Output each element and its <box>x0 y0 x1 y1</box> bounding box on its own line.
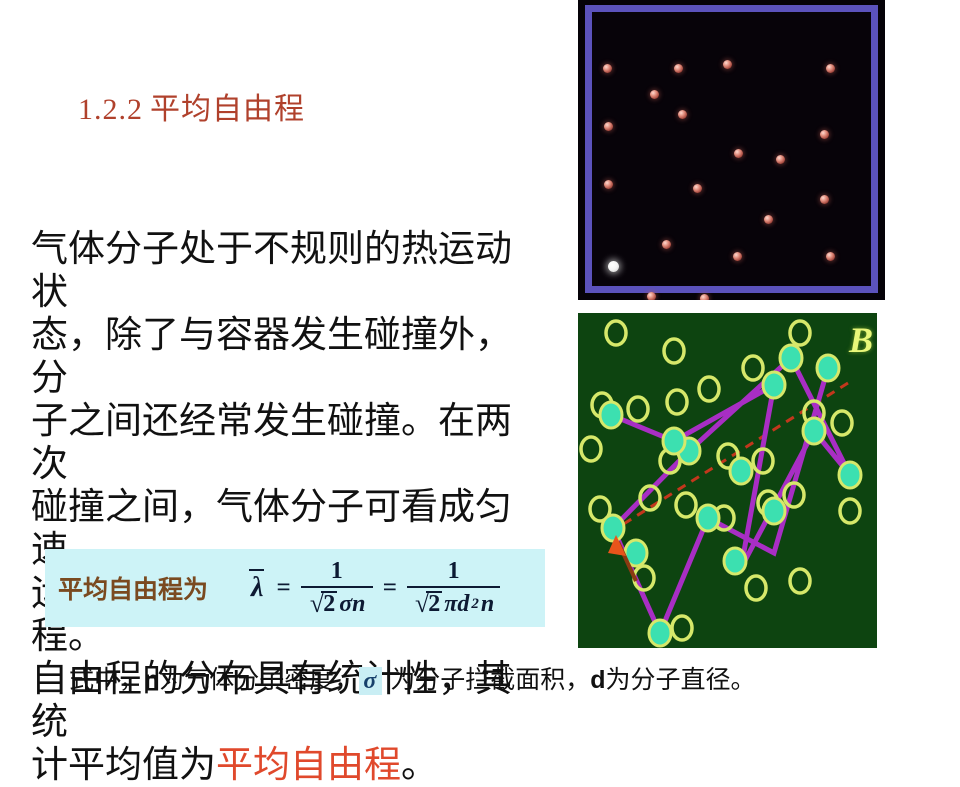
gas-molecule <box>662 240 671 249</box>
equals-sign-1: = <box>276 574 290 602</box>
body-line-1: 气体分子处于不规则的热运动状 <box>31 228 531 314</box>
sigma-n-term: σn <box>339 592 365 616</box>
gas-molecule <box>723 60 732 69</box>
body-paragraph: 气体分子处于不规则的热运动状 态，除了与容器发生碰撞外，分 子之间还经常发生碰撞… <box>31 228 531 787</box>
page-title: 1.2.2平均自由程 <box>78 84 305 128</box>
caption-part-1: 式中， <box>69 667 144 694</box>
caption-var-d: d <box>590 666 605 694</box>
body-line-2: 态，除了与容器发生碰撞外，分 <box>31 314 531 400</box>
gas-molecule <box>604 122 613 131</box>
slide-root: 1.2.2平均自由程 气体分子处于不规则的热运动状 态，除了与容器发生碰撞外，分… <box>0 0 960 720</box>
fraction-sigma-denominator: √2 σn <box>302 588 372 617</box>
fraction-diameter: 1 √2 πd 2 n <box>407 559 500 617</box>
gas-molecule <box>733 252 742 261</box>
caption-var-sigma: σ <box>359 667 382 695</box>
tracer-molecule <box>608 261 619 272</box>
gas-molecule <box>776 155 785 164</box>
body-line-7-suffix: 。 <box>401 745 438 786</box>
lambda-bar-symbol: λ <box>248 572 266 604</box>
figure-label-b: B <box>849 319 873 361</box>
gas-molecule <box>650 90 659 99</box>
fraction-sigma: 1 √2 σn <box>301 559 373 617</box>
sqrt-icon-2: √2 <box>413 591 441 617</box>
gas-molecule <box>604 180 613 189</box>
fraction-diameter-denominator: √2 πd 2 n <box>407 588 500 617</box>
gas-molecule <box>678 110 687 119</box>
title-number: 1.2.2 <box>78 93 143 126</box>
title-text: 平均自由程 <box>150 93 305 126</box>
caption-var-n: n <box>144 666 159 694</box>
figure-collision-container: B <box>578 313 877 648</box>
sqrt-radicand-1: 2 <box>322 592 336 616</box>
sqrt-icon: √2 <box>308 591 336 617</box>
gas-molecule <box>603 64 612 73</box>
body-line-7: 计平均值为平均自由程。 <box>31 744 531 787</box>
gas-container-frame <box>585 5 878 293</box>
caption-part-2: 为气体分子密度， <box>159 667 359 694</box>
n-term: n <box>481 592 494 616</box>
fraction-sigma-numerator: 1 <box>325 559 349 586</box>
formula-label: 平均自由程为 <box>58 570 208 606</box>
gas-molecule <box>734 149 743 158</box>
gas-molecule <box>647 292 656 300</box>
formula-panel: 平均自由程为 λ = 1 √2 σn = 1 √2 πd 2 n <box>45 549 545 627</box>
collision-diagram <box>578 313 877 648</box>
body-line-3: 子之间还经常发生碰撞。在两次 <box>31 400 531 486</box>
exponent-two: 2 <box>471 597 479 612</box>
equals-sign-2: = <box>383 574 397 602</box>
gas-molecule <box>674 64 683 73</box>
body-line-7-prefix: 计平均值为 <box>31 745 216 786</box>
gas-molecule <box>700 294 709 300</box>
caption-part-3: 为分子拦截面积， <box>390 667 590 694</box>
caption-part-4: 为分子直径。 <box>606 667 756 694</box>
figure-gas-container <box>578 0 885 300</box>
gas-molecule <box>826 64 835 73</box>
gas-molecule <box>820 130 829 139</box>
formula-expression: λ = 1 √2 σn = 1 √2 πd 2 n <box>248 559 500 617</box>
gas-molecule <box>820 195 829 204</box>
body-term-highlight: 平均自由程 <box>216 745 401 786</box>
fraction-diameter-numerator: 1 <box>442 559 466 586</box>
gas-molecule <box>693 184 702 193</box>
gas-molecule <box>826 252 835 261</box>
gas-molecule <box>764 215 773 224</box>
pi-d-term: πd <box>444 592 469 616</box>
formula-caption: 式中，n为气体分子密度，σ为分子拦截面积，d为分子直径。 <box>69 660 756 696</box>
sqrt-radicand-2: 2 <box>427 592 441 616</box>
